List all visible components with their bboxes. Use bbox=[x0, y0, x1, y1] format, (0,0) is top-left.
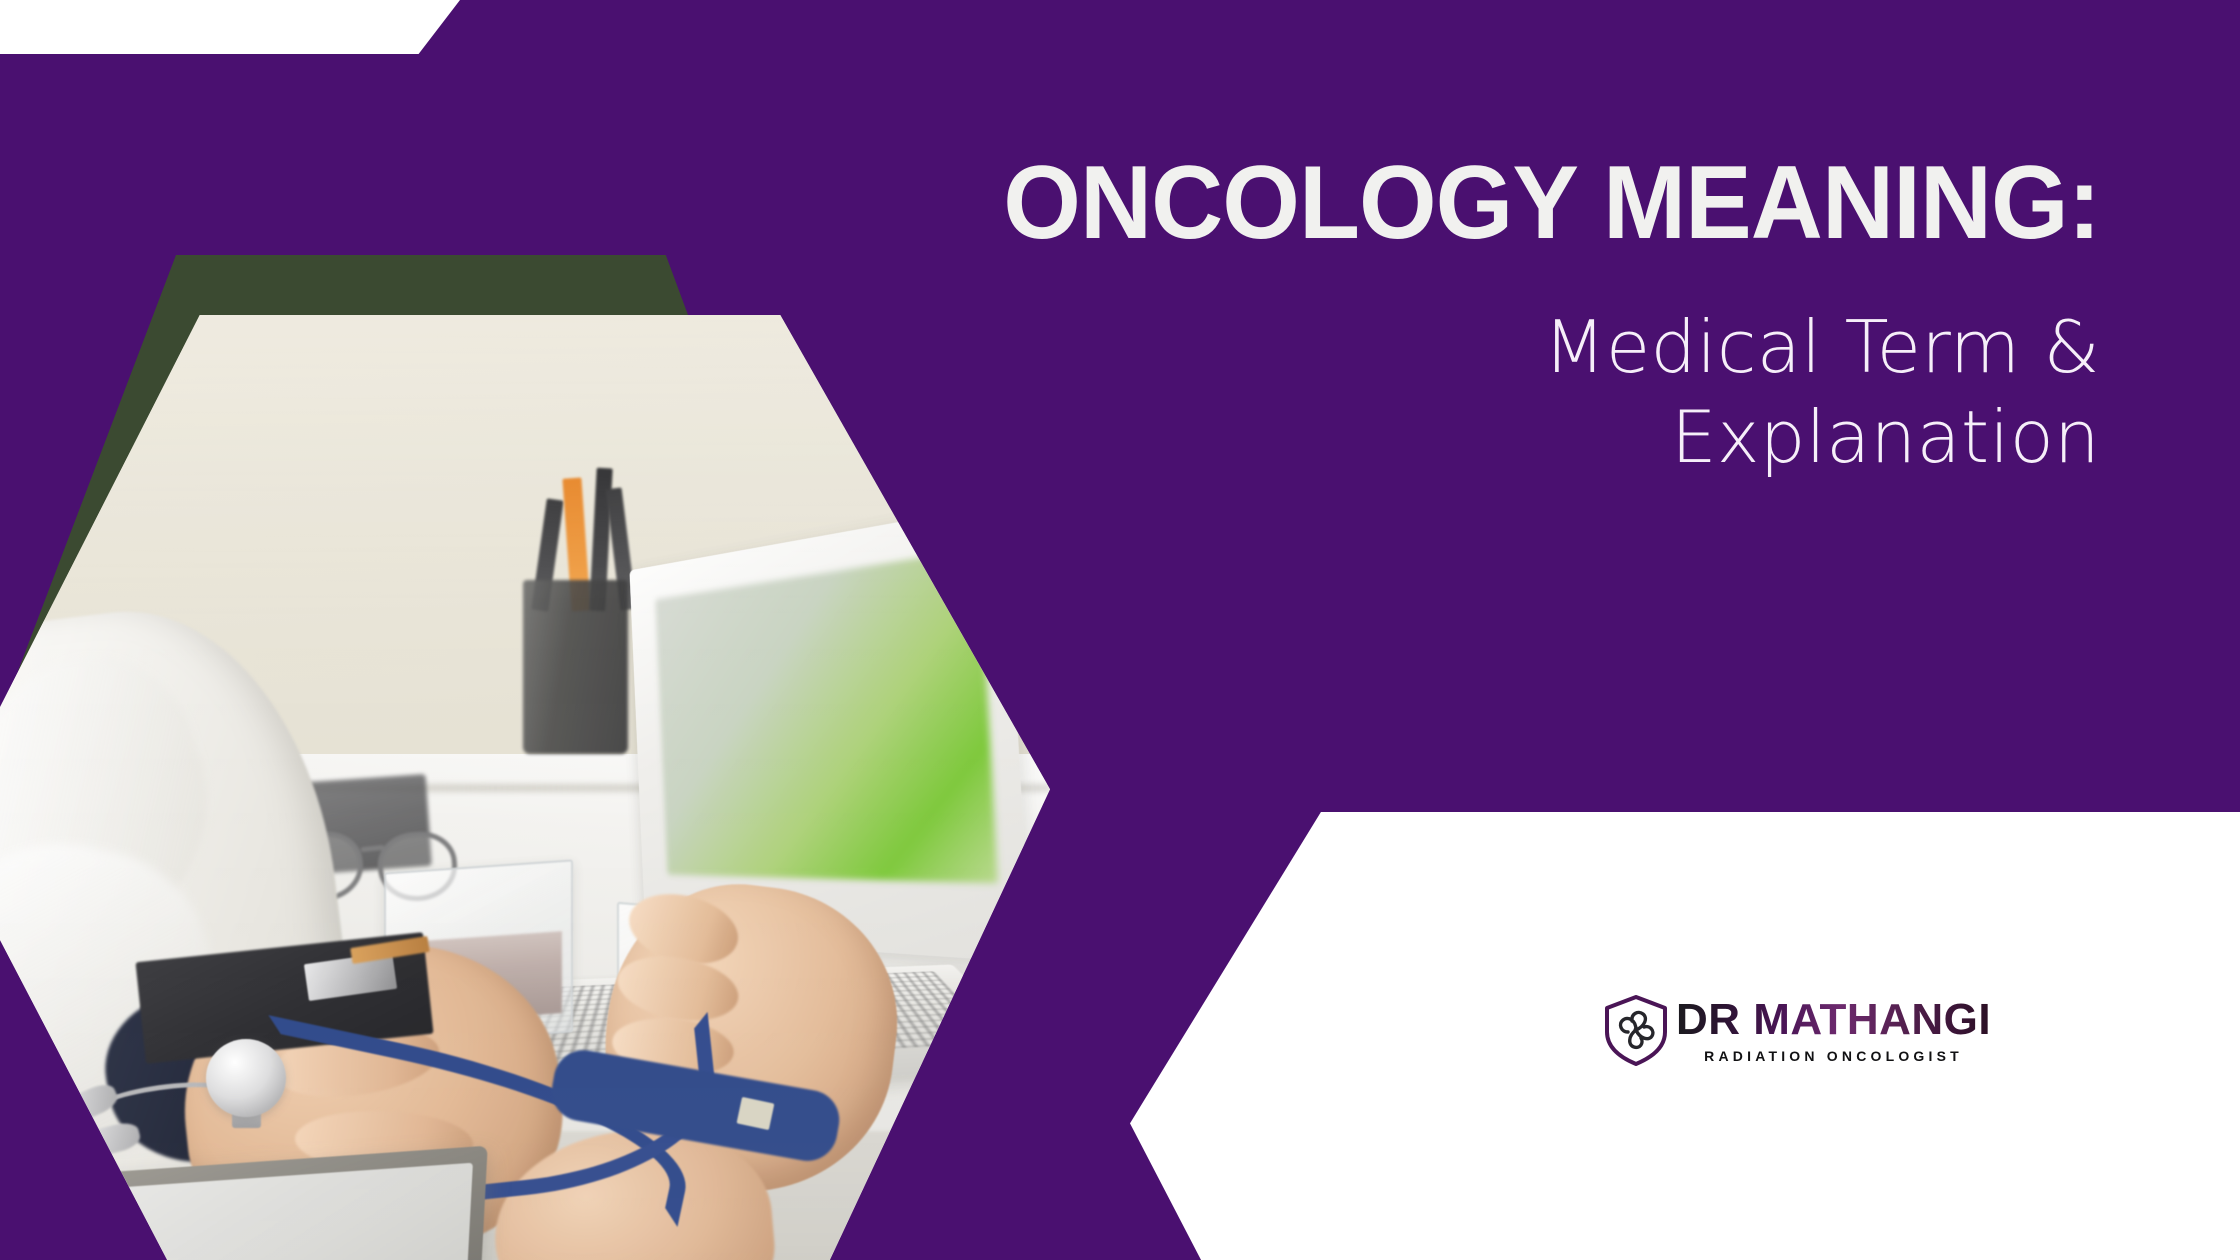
logo-tagline: RADIATION ONCOLOGIST bbox=[1676, 1049, 1991, 1063]
laptop-display bbox=[655, 549, 997, 884]
headline-block: ONCOLOGY MEANING: Medical Term & Explana… bbox=[800, 150, 2100, 482]
brand-logo[interactable]: DR MATHANGI RADIATION ONCOLOGIST bbox=[1600, 992, 1991, 1068]
tablet-device bbox=[25, 1145, 488, 1260]
logo-text-block: DR MATHANGI RADIATION ONCOLOGIST bbox=[1676, 998, 1991, 1063]
logo-name: DR MATHANGI bbox=[1676, 998, 1991, 1042]
page-title: ONCOLOGY MEANING: bbox=[852, 150, 2100, 256]
oncology-banner: ONCOLOGY MEANING: Medical Term & Explana… bbox=[0, 0, 2240, 1260]
stethoscope-chestpiece bbox=[206, 1039, 286, 1117]
tablet-screen bbox=[40, 1163, 474, 1260]
top-left-white-corner-shape bbox=[0, 0, 460, 54]
page-subtitle-line-1: Medical Term & bbox=[800, 302, 2100, 392]
page-subtitle: Medical Term & Explanation bbox=[800, 302, 2100, 482]
shield-triskelion-icon bbox=[1600, 992, 1672, 1068]
pen-holder-cup bbox=[523, 580, 628, 753]
page-subtitle-line-2: Explanation bbox=[800, 392, 2100, 482]
